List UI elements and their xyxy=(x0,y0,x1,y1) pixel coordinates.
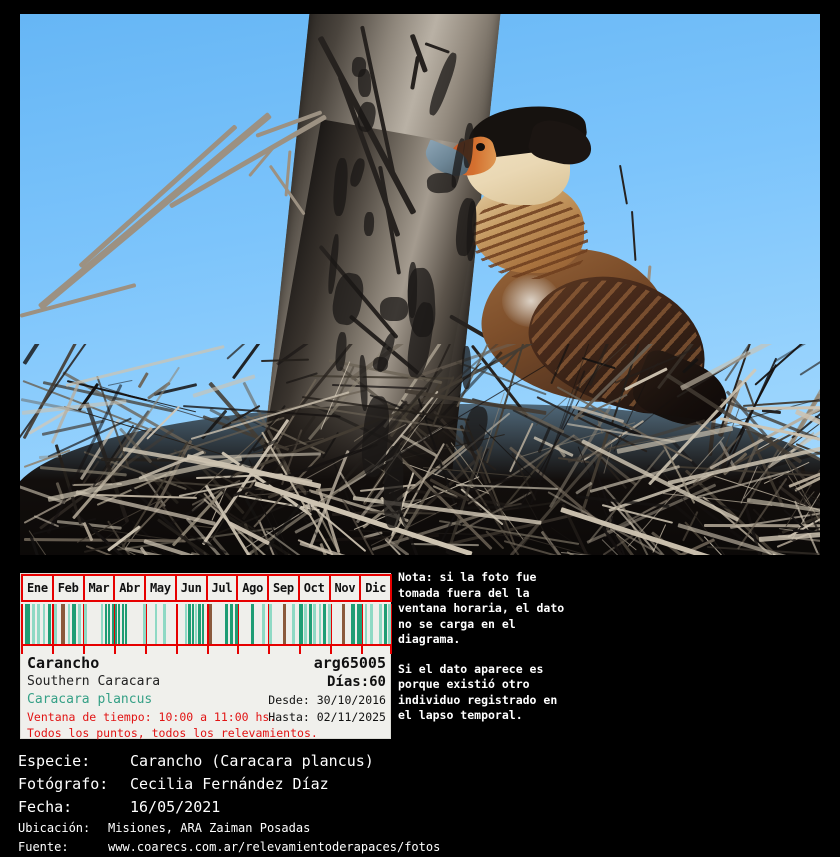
nest-stick xyxy=(682,358,699,374)
month-cell-mar: Mar xyxy=(85,576,116,600)
days-count: Días:60 xyxy=(268,673,386,692)
axis-tick xyxy=(299,646,301,654)
month-cell-feb: Feb xyxy=(54,576,85,600)
bark-texture xyxy=(380,297,409,322)
nest-stick xyxy=(137,372,148,388)
axis-tick xyxy=(145,646,147,654)
month-cell-sep: Sep xyxy=(269,576,300,600)
calendar-info-right: arg65005 Días:60 Desde: 30/10/2016 Hasta… xyxy=(268,654,386,726)
observation-bar xyxy=(118,604,120,646)
axis-tick xyxy=(52,646,54,654)
observation-bar xyxy=(342,604,345,646)
source-value: www.coarecs.com.ar/relevamientoderapaces… xyxy=(108,838,440,857)
observation-bar xyxy=(299,604,302,646)
location-value: Misiones, ARA Zaiman Posadas xyxy=(108,819,310,838)
observation-bar xyxy=(155,604,158,646)
observation-bar xyxy=(323,604,326,646)
observation-bar xyxy=(192,604,194,646)
phenology-calendar: EneFebMarAbrMayJunJulAgoSepOctNovDic Car… xyxy=(20,573,391,739)
meta-row-photographer: Fotógrafo: Cecilia Fernández Díaz xyxy=(18,773,578,796)
calendar-axis-ticks xyxy=(21,646,392,654)
observation-bar xyxy=(269,604,272,646)
date-range-to: Hasta: 02/11/2025 xyxy=(268,709,386,726)
axis-tick xyxy=(330,646,332,654)
nest-stick xyxy=(261,359,309,362)
calendar-month-header: EneFebMarAbrMayJunJulAgoSepOctNovDic xyxy=(21,574,392,602)
species-value: Carancho (Caracara plancus) xyxy=(130,750,374,773)
observation-bar xyxy=(115,604,117,646)
bark-texture xyxy=(363,211,374,235)
observation-bar xyxy=(304,604,307,646)
observation-bar xyxy=(101,604,103,646)
observation-bar xyxy=(379,604,382,646)
meta-row-source: Fuente: www.coarecs.com.ar/relevamientod… xyxy=(18,838,578,857)
axis-tick xyxy=(83,646,85,654)
observation-bar xyxy=(313,604,316,646)
calendar-info-panel: Carancho Southern Caracara Caracara plan… xyxy=(21,654,392,739)
month-cell-may: May xyxy=(146,576,177,600)
scope-note: Todos los puntos, todos los relevamiento… xyxy=(27,725,318,741)
bird-eye xyxy=(476,143,485,151)
observation-bar xyxy=(370,604,373,646)
observation-bar xyxy=(188,604,190,646)
observation-bar xyxy=(105,604,107,646)
axis-tick xyxy=(268,646,270,654)
month-separator xyxy=(237,604,239,646)
date-range-from: Desde: 30/10/2016 xyxy=(268,692,386,709)
axis-tick xyxy=(390,646,392,654)
observation-bar xyxy=(108,604,110,646)
observation-bar xyxy=(163,604,166,646)
observation-bar xyxy=(54,604,57,646)
date-value: 16/05/2021 xyxy=(130,796,220,819)
note-paragraph-1: Nota: si la foto fue tomada fuera del la… xyxy=(398,570,568,648)
observation-bar xyxy=(225,604,228,646)
bark-texture xyxy=(462,346,471,389)
month-cell-dic: Dic xyxy=(361,576,392,600)
observation-bar xyxy=(202,604,204,646)
observation-bar xyxy=(37,604,40,646)
date-label: Fecha: xyxy=(18,796,130,819)
from-value: 30/10/2016 xyxy=(317,693,386,707)
observation-bar xyxy=(84,604,87,646)
to-label: Hasta: xyxy=(268,710,310,724)
observation-bar xyxy=(43,604,46,646)
from-label: Desde: xyxy=(268,693,310,707)
observation-bar xyxy=(112,604,114,646)
bark-texture xyxy=(357,68,371,96)
month-cell-ago: Ago xyxy=(238,576,269,600)
record-code: arg65005 xyxy=(268,654,386,673)
observation-bar xyxy=(72,604,76,646)
observation-bar xyxy=(25,604,29,646)
observation-bar xyxy=(328,604,331,646)
observation-bar xyxy=(357,604,362,646)
nest-stick xyxy=(799,344,820,376)
explanatory-note: Nota: si la foto fue tomada fuera del la… xyxy=(398,570,568,738)
nest-stick xyxy=(550,344,571,384)
month-cell-nov: Nov xyxy=(331,576,362,600)
month-cell-abr: Abr xyxy=(115,576,146,600)
photographer-label: Fotógrafo: xyxy=(18,773,130,796)
observation-bar xyxy=(235,604,238,646)
axis-tick xyxy=(361,646,363,654)
observation-bar xyxy=(78,604,81,646)
observation-bar xyxy=(198,604,200,646)
bird-neck-barring xyxy=(472,195,588,279)
observation-bar xyxy=(384,604,387,646)
to-value: 02/11/2025 xyxy=(317,710,386,724)
observation-bar xyxy=(122,604,124,646)
photographer-value: Cecilia Fernández Díaz xyxy=(130,773,329,796)
observation-bar xyxy=(68,604,71,646)
observation-bar xyxy=(309,604,312,646)
month-cell-oct: Oct xyxy=(300,576,331,600)
note-paragraph-2: Si el dato aparece es porque existió otr… xyxy=(398,662,568,724)
observation-bar xyxy=(351,604,354,646)
source-label: Fuente: xyxy=(18,838,108,857)
nest-stick xyxy=(276,344,385,366)
observation-bar xyxy=(388,604,391,646)
meta-row-species: Especie: Carancho (Caracara plancus) xyxy=(18,750,578,773)
observation-bar xyxy=(32,604,35,646)
observation-bar xyxy=(61,604,65,646)
month-cell-ene: Ene xyxy=(21,576,54,600)
observation-bar xyxy=(48,604,51,646)
species-label: Especie: xyxy=(18,750,130,773)
meta-row-date: Fecha: 16/05/2021 xyxy=(18,796,578,819)
axis-tick xyxy=(176,646,178,654)
axis-tick xyxy=(237,646,239,654)
axis-tick xyxy=(114,646,116,654)
axis-tick xyxy=(21,646,23,654)
month-separator xyxy=(21,604,23,646)
photo-metadata: Especie: Carancho (Caracara plancus) Fot… xyxy=(18,750,578,857)
observation-bar xyxy=(209,604,213,646)
observation-bar xyxy=(283,604,286,646)
axis-tick xyxy=(207,646,209,654)
nest-stick-foreground xyxy=(66,345,225,387)
observation-bar xyxy=(230,604,233,646)
observation-bar xyxy=(262,604,265,646)
meta-row-location: Ubicación: Misiones, ARA Zaiman Posadas xyxy=(18,819,578,838)
observation-bar xyxy=(195,604,197,646)
observation-bar xyxy=(185,604,187,646)
nest-stick xyxy=(754,344,820,385)
month-cell-jun: Jun xyxy=(177,576,208,600)
month-separator xyxy=(176,604,178,646)
observation-bar xyxy=(319,604,322,646)
month-cell-jul: Jul xyxy=(208,576,239,600)
observation-bar xyxy=(292,604,295,646)
observation-bar xyxy=(143,604,146,646)
observation-plot xyxy=(21,604,392,646)
observation-bar xyxy=(365,604,368,646)
species-photo xyxy=(20,14,820,555)
observation-bar xyxy=(251,604,254,646)
location-label: Ubicación: xyxy=(18,819,108,838)
observation-bar xyxy=(125,604,127,646)
